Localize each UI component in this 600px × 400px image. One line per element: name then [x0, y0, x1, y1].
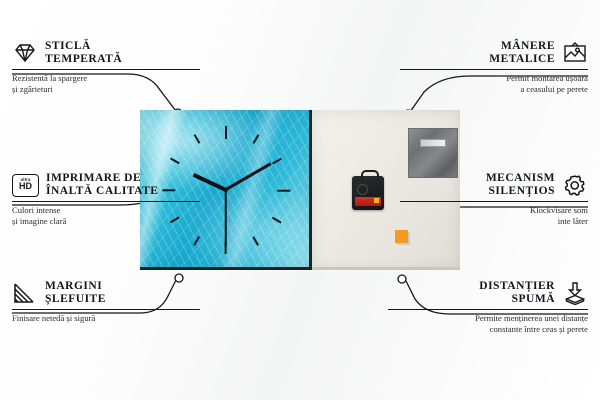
feature-rule [400, 201, 588, 202]
diamond-icon [12, 41, 38, 65]
feature-description: Permit montarea ușoară a ceasului pe per… [400, 73, 588, 94]
clock-hour-mark [272, 216, 281, 222]
feature-metal-handles: MÂNERE METALICE Permit montarea ușoară a… [400, 40, 588, 94]
feature-header: MECANISM SILENȚIOS [400, 172, 588, 198]
feature-rule [388, 309, 588, 310]
clock-hour-mark [193, 236, 199, 245]
polished-edge-icon [12, 281, 38, 305]
picture-hanger-icon [562, 41, 588, 65]
ultra-hd-icon: ultra HD [12, 174, 39, 197]
feature-title: MARGINI ȘLEFUITE [45, 280, 106, 306]
infographic-canvas: STICLĂ TEMPERATĂ Rezistentă la spargere … [0, 0, 600, 400]
clock-hour-mark [252, 236, 258, 245]
feature-description: Culori intense și imagine clară [12, 205, 200, 226]
clock-hour-mark [272, 157, 281, 163]
feature-description: Permite menținerea unei distanțe constan… [388, 313, 588, 334]
feature-foam-spacer: DISTANȚIER SPUMĂ Permite menținerea unei… [388, 280, 588, 334]
feature-title: IMPRIMARE DE ÎNALTĂ CALITATE [46, 172, 158, 198]
mechanism-dial [357, 184, 368, 195]
ultra-hd-icon-large-text: HD [19, 182, 32, 192]
press-down-icon [562, 281, 588, 305]
feature-rule [400, 69, 588, 70]
clock-hour-mark [170, 157, 179, 163]
feature-header: MARGINI ȘLEFUITE [12, 280, 200, 306]
feature-header: STICLĂ TEMPERATĂ [12, 40, 200, 66]
feature-silent-mechanism: MECANISM SILENȚIOS Klockvisare som inte … [400, 172, 588, 226]
feature-description: Klockvisare som inte låter [400, 205, 588, 226]
foam-spacer-pad [395, 230, 408, 243]
feature-header: MÂNERE METALICE [400, 40, 588, 66]
mechanism-battery [355, 197, 381, 206]
feature-header: DISTANȚIER SPUMĂ [388, 280, 588, 306]
feature-rule [12, 309, 200, 310]
clock-hour-mark [193, 134, 199, 143]
feature-title: DISTANȚIER SPUMĂ [479, 280, 555, 306]
gear-icon [562, 173, 588, 197]
feature-title: STICLĂ TEMPERATĂ [45, 40, 122, 66]
feature-polished-edges: MARGINI ȘLEFUITE Finisare netedă și sigu… [12, 280, 200, 324]
feature-rule [12, 69, 200, 70]
glass-edge-bottom [140, 267, 312, 270]
feature-high-quality-print: ultra HD IMPRIMARE DE ÎNALTĂ CALITATE Cu… [12, 172, 200, 226]
back-edge-bottom [312, 267, 460, 270]
clock-mechanism [352, 176, 384, 210]
feature-rule [12, 201, 200, 202]
feature-header: ultra HD IMPRIMARE DE ÎNALTĂ CALITATE [12, 172, 200, 198]
hanger-slot [420, 139, 446, 147]
mechanism-hanging-loop [361, 170, 379, 180]
feature-description: Rezistentă la spargere și zgârieturi [12, 73, 200, 94]
clock-hour-mark [225, 126, 227, 139]
clock-hour-mark [277, 189, 290, 191]
clock-hour-mark [252, 134, 258, 143]
feature-title: MÂNERE METALICE [489, 40, 555, 66]
feature-title: MECANISM SILENȚIOS [486, 172, 555, 198]
feature-description: Finisare netedă și sigură [12, 313, 200, 324]
clock-second-hand [225, 190, 227, 246]
clock-minute-hand [225, 163, 272, 192]
metal-hanger-plate [408, 128, 458, 178]
feature-tempered-glass: STICLĂ TEMPERATĂ Rezistentă la spargere … [12, 40, 200, 94]
